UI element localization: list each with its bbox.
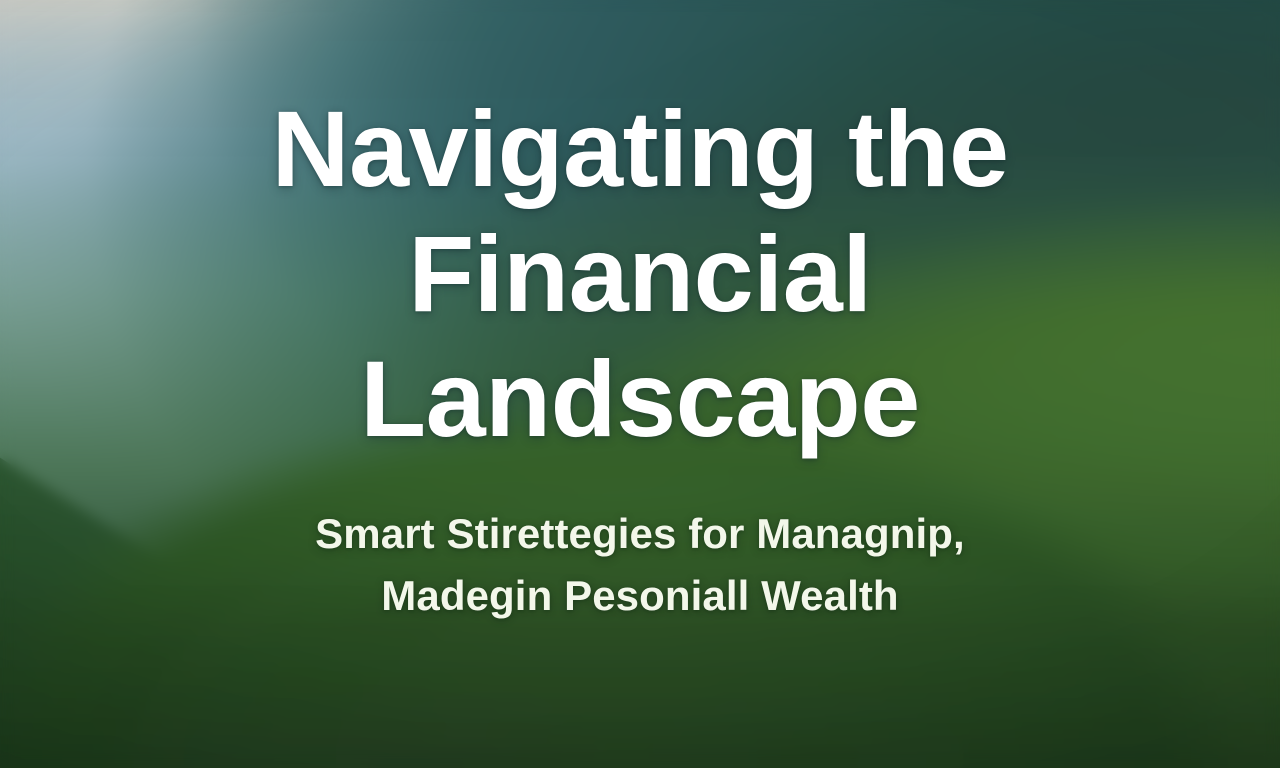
presentation-slide: Navigating the Financial Landscape Smart… [0, 0, 1280, 768]
slide-title: Navigating the Financial Landscape [0, 86, 1280, 461]
slide-text-block: Navigating the Financial Landscape Smart… [0, 0, 1280, 768]
slide-subtitle: Smart Stirettegies for Managnip, Madegin… [0, 503, 1280, 627]
